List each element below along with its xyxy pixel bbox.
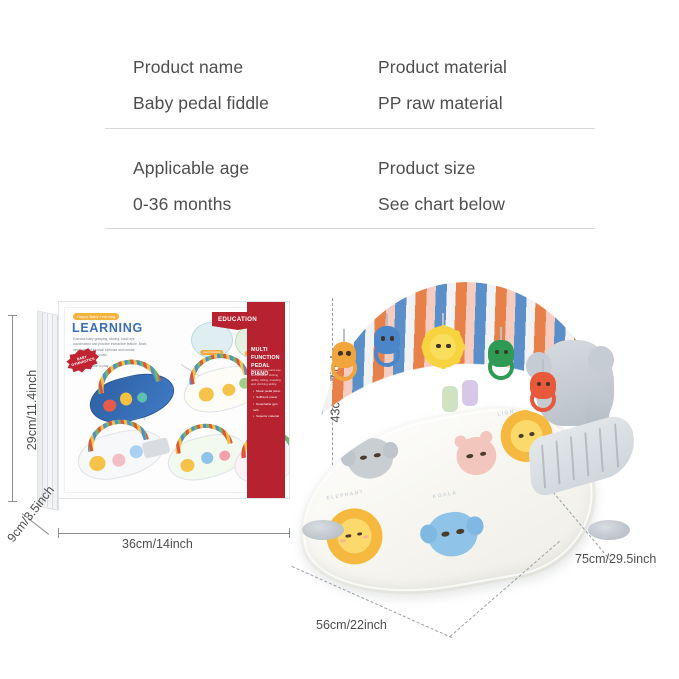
dimension-tick — [8, 315, 17, 316]
retail-box: Happy Baby Learning LEARNING Exercise ba… — [37, 301, 290, 511]
animal-eye — [456, 529, 465, 535]
list-item: Detachable gym rack — [253, 401, 282, 414]
toy-teether-ring — [530, 386, 556, 412]
animal-face — [334, 516, 374, 556]
spec-row: Applicable age 0-36 months Product size … — [105, 129, 595, 230]
spec-cell-product-size: Product size See chart below — [350, 159, 595, 215]
hanging-toy-cat-orange[interactable] — [332, 342, 356, 368]
animal-eye — [480, 451, 487, 456]
box-side-text: Exercise the hand-eye coordination, kick… — [251, 368, 281, 387]
piano-key[interactable] — [556, 440, 561, 484]
spec-cell-applicable-age: Applicable age 0-36 months — [105, 159, 350, 215]
spec-label: Product material — [378, 58, 595, 77]
product-spec-table: Product name Baby pedal fiddle Product m… — [105, 58, 595, 229]
dimension-box-height: 29cm/11.4inch — [25, 370, 39, 450]
spec-value: PP raw material — [378, 94, 595, 113]
toy-teether-ring — [374, 341, 400, 367]
hanging-pad-green[interactable] — [442, 386, 458, 412]
toy-body — [530, 372, 556, 399]
piano-key[interactable] — [585, 432, 590, 476]
spec-value: See chart below — [378, 195, 595, 214]
box-heading: LEARNING — [72, 321, 143, 335]
dimension-tick — [58, 528, 59, 538]
spec-label: Applicable age — [133, 159, 350, 178]
hanging-pad-purple[interactable] — [462, 380, 478, 406]
dimension-tick — [8, 501, 17, 502]
box-side-texture — [38, 312, 58, 510]
piano-key[interactable] — [541, 444, 546, 488]
piano-key[interactable] — [614, 424, 619, 468]
animal-eye — [373, 453, 381, 458]
toy-string — [500, 327, 502, 341]
box-front-panel: Happy Baby Learning LEARNING Exercise ba… — [58, 301, 290, 499]
animal-eye — [360, 455, 368, 460]
box-top-badge: Happy Baby Learning — [73, 313, 119, 320]
toy-string — [386, 313, 388, 327]
toy-eye — [381, 336, 386, 341]
piano-ear — [588, 346, 614, 374]
arch-foot-right — [588, 520, 630, 540]
list-item: Superior material — [253, 413, 282, 419]
dimension-guide — [58, 533, 290, 534]
hanging-toy-sun[interactable] — [422, 326, 464, 368]
spec-label: Product size — [378, 159, 595, 178]
hanging-toy-cat-green[interactable] — [488, 340, 514, 367]
toy-eye — [436, 344, 441, 349]
animal-eye — [466, 454, 473, 459]
toy-body — [332, 342, 356, 368]
spec-cell-product-name: Product name Baby pedal fiddle — [105, 58, 350, 114]
playmat-gym-group: 43cm/17inch — [290, 280, 679, 650]
animal-ear — [454, 435, 468, 448]
animal-eye — [357, 532, 363, 536]
box-side-feature-list: Music pedal piano Sufficient power Detac… — [253, 388, 282, 419]
package-box-group: Happy Baby Learning LEARNING Exercise ba… — [0, 285, 300, 565]
dimension-box-width: 36cm/14inch — [122, 537, 193, 551]
dimension-mat-length: 75cm/29.5inch — [575, 552, 656, 566]
spec-cell-product-material: Product material PP raw material — [350, 58, 595, 114]
spec-value: 0-36 months — [133, 195, 350, 214]
toy-body — [374, 326, 400, 354]
box-side-panel — [37, 310, 59, 511]
piano-key[interactable] — [599, 428, 604, 472]
toy-eye — [390, 336, 395, 341]
toy-teether-ring — [331, 355, 357, 381]
hanging-toy-cat-red[interactable] — [530, 372, 556, 399]
toy-body — [488, 340, 514, 367]
dimension-guide — [12, 315, 13, 501]
sun-icon — [422, 326, 464, 368]
toy-string — [343, 329, 345, 343]
spec-label: Product name — [133, 58, 350, 77]
piano-key[interactable] — [570, 436, 575, 480]
toy-eye — [446, 344, 451, 349]
toy-string — [542, 359, 544, 373]
animal-cheek — [363, 535, 369, 539]
animal-cheek — [340, 539, 346, 543]
hanging-toy-cat-blue[interactable] — [374, 326, 400, 354]
animal-eye — [345, 534, 351, 538]
dimension-mat-width: 56cm/22inch — [316, 618, 387, 632]
spec-value: Baby pedal fiddle — [133, 94, 350, 113]
box-red-side-panel: MULTI FUNCTION PEDAL PIANO Exercise the … — [247, 302, 285, 499]
animal-eye — [441, 531, 450, 537]
spec-row: Product name Baby pedal fiddle Product m… — [105, 58, 595, 129]
toy-teether-ring — [488, 354, 514, 380]
